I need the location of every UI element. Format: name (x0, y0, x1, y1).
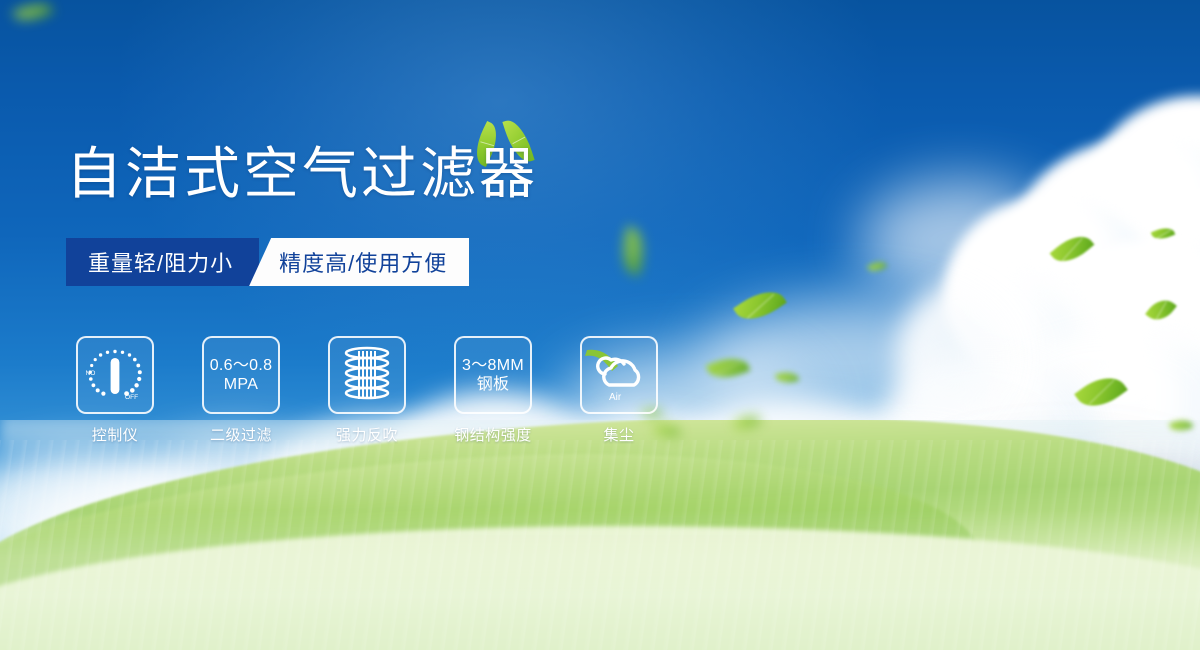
air-cloud-icon: Air (585, 344, 653, 406)
subtitle-badge-secondary: 精度高/使用方便 (249, 238, 469, 286)
feature-icon-box (328, 336, 406, 414)
dial-on-label: NO (86, 370, 96, 377)
banner-content: 自洁式空气过滤器 重量轻/阻力小 精度高/使用方便 (0, 0, 1200, 650)
product-banner: 自洁式空气过滤器 重量轻/阻力小 精度高/使用方便 (0, 0, 1200, 650)
feature-item-steel-strength[interactable]: 3～8MM 钢板 钢结构强度 (454, 336, 532, 445)
page-title: 自洁式空气过滤器 (66, 142, 538, 206)
dial-off-label: OFF (125, 394, 138, 401)
air-label: Air (609, 392, 622, 403)
filter-cartridge-icon (337, 344, 397, 406)
control-dial-icon: NO OFF (82, 344, 148, 406)
feature-list: NO OFF 控制仪 0.6～0.8 MPA 二级过滤 (76, 336, 658, 445)
steel-plate-text: 钢板 (477, 375, 510, 394)
feature-icon-box: Air (580, 336, 658, 414)
feature-label: 钢结构强度 (454, 424, 532, 445)
feature-label: 集尘 (580, 424, 658, 445)
feature-item-reverse-blow[interactable]: 强力反吹 (328, 336, 406, 445)
feature-label: 二级过滤 (202, 424, 280, 445)
steel-thickness-text: 3～8MM (462, 356, 524, 375)
pressure-range-text: 0.6～0.8 (210, 356, 273, 375)
feature-item-dust-collection[interactable]: Air 集尘 (580, 336, 658, 445)
feature-icon-box: 3～8MM 钢板 (454, 336, 532, 414)
subtitle-bar: 重量轻/阻力小 精度高/使用方便 (66, 238, 469, 286)
subtitle-badge-primary: 重量轻/阻力小 (66, 238, 259, 286)
feature-label: 强力反吹 (328, 424, 406, 445)
feature-item-two-stage-filter[interactable]: 0.6～0.8 MPA 二级过滤 (202, 336, 280, 445)
feature-label: 控制仪 (76, 424, 154, 445)
feature-icon-box: 0.6～0.8 MPA (202, 336, 280, 414)
pressure-unit-text: MPA (224, 375, 258, 394)
feature-item-controller[interactable]: NO OFF 控制仪 (76, 336, 154, 445)
feature-icon-box: NO OFF (76, 336, 154, 414)
